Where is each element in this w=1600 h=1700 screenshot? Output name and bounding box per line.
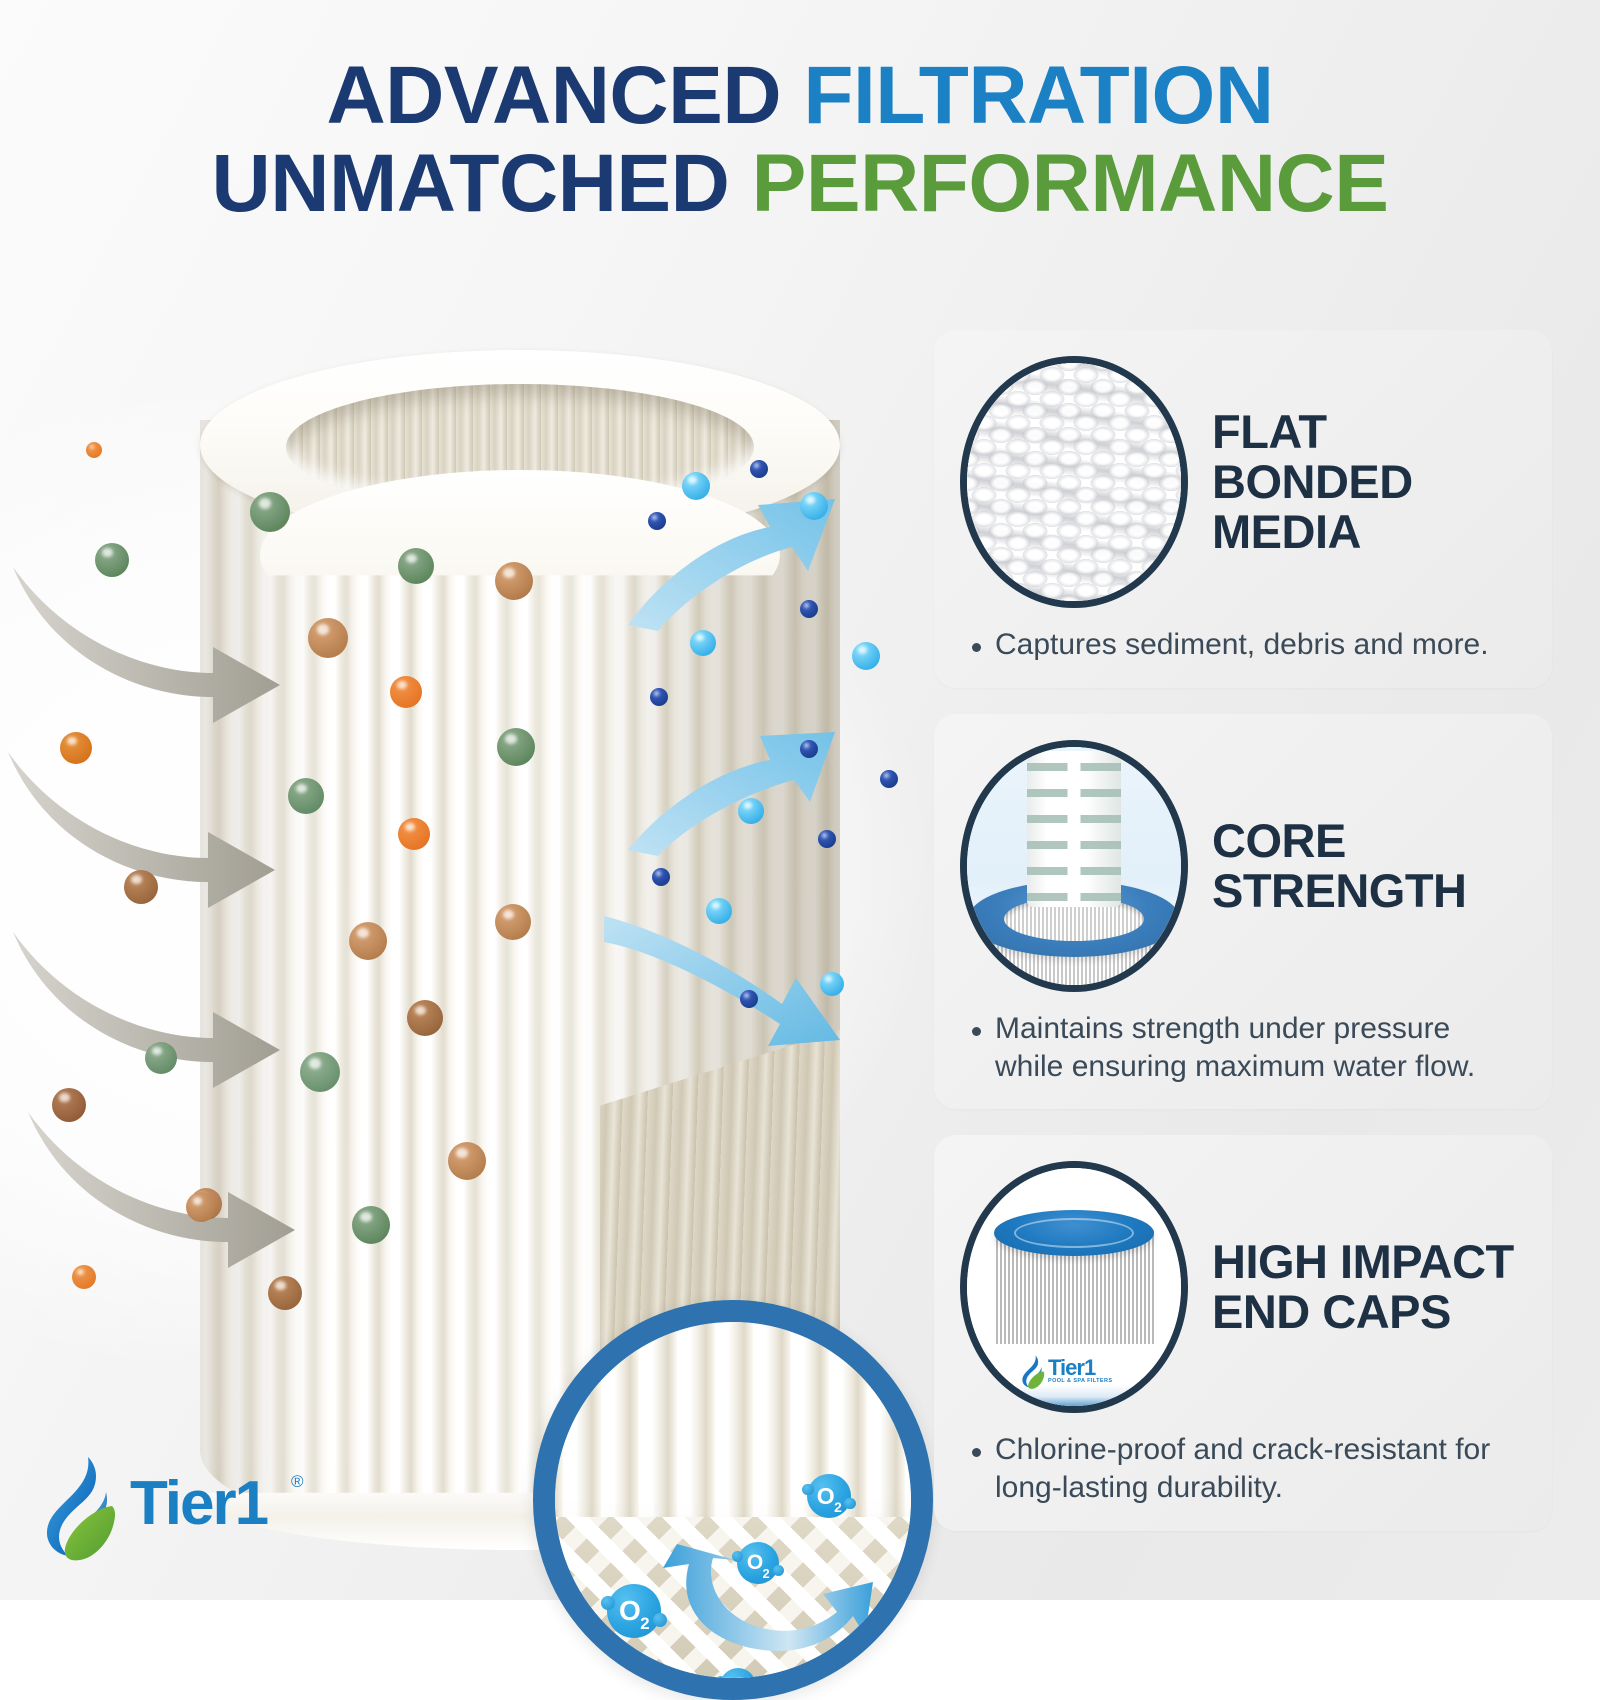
contaminant-particle <box>124 870 158 904</box>
infographic-page: ADVANCED FILTRATION UNMATCHED PERFORMANC… <box>0 0 1600 1600</box>
card-bullets: Maintains strength under pressure while … <box>960 1010 1526 1086</box>
contaminant-particle <box>349 922 387 960</box>
tier1-logo: Tier1 ® <box>34 1452 334 1570</box>
clean-water-droplet <box>650 688 668 706</box>
contaminant-particle <box>448 1142 486 1180</box>
magnifier-content: O2 O2 O2 O2 <box>555 1322 911 1678</box>
card-header: CORE STRENGTH <box>960 740 1526 992</box>
card-header: Tier1 POOL & SPA FILTERS HIGH IMPACT END… <box>960 1161 1526 1413</box>
headline-filtration: FILTRATION <box>803 50 1273 141</box>
cartridge-tagline: POOL & SPA FILTERS <box>1048 1378 1112 1384</box>
filter-illustration: O2 O2 O2 O2 <box>0 300 950 1600</box>
bullet-dot-icon <box>972 1027 981 1036</box>
bonded-media-texture-icon <box>960 356 1188 608</box>
clean-water-droplet <box>652 868 670 886</box>
contaminant-particle <box>407 1000 443 1036</box>
feature-card-flat-bonded-media[interactable]: FLAT BONDED MEDIA Captures sediment, deb… <box>934 330 1552 688</box>
card-title: CORE STRENGTH <box>1212 816 1467 917</box>
contaminant-particle <box>60 732 92 764</box>
contaminant-particle <box>52 1088 86 1122</box>
cartridge-tier1-logo: Tier1 POOL & SPA FILTERS <box>1014 1352 1134 1392</box>
clean-water-droplet <box>800 492 828 520</box>
magnified-pleats <box>555 1322 911 1537</box>
bullet-text: Captures sediment, debris and more. <box>995 626 1489 664</box>
headline-line-2: UNMATCHED PERFORMANCE <box>0 140 1600 228</box>
card-header: FLAT BONDED MEDIA <box>960 356 1526 608</box>
filter-core-icon <box>960 740 1188 992</box>
inflow-arrow-4 <box>10 1100 310 1270</box>
card-title-line: MEDIA <box>1212 507 1413 557</box>
card-title-line: HIGH IMPACT <box>1212 1237 1514 1287</box>
bullet-dot-icon <box>972 643 981 652</box>
clean-water-droplet <box>820 972 844 996</box>
tier1-wordmark: Tier1 <box>130 1468 267 1539</box>
contaminant-particle <box>72 1265 96 1289</box>
clean-water-droplet <box>750 460 768 478</box>
clean-water-droplet <box>740 990 758 1008</box>
cartridge-flame-leaf-icon <box>1018 1354 1048 1390</box>
contaminant-particle <box>300 1052 340 1092</box>
contaminant-particle <box>308 618 348 658</box>
clean-water-droplet <box>682 472 710 500</box>
headline-line-1: ADVANCED FILTRATION <box>0 52 1600 140</box>
clean-water-droplet <box>852 642 880 670</box>
contaminant-particle <box>268 1276 302 1310</box>
feature-card-high-impact-end-caps[interactable]: Tier1 POOL & SPA FILTERS HIGH IMPACT END… <box>934 1135 1552 1531</box>
card-title-line: FLAT <box>1212 407 1413 457</box>
contaminant-particle <box>390 676 422 708</box>
clean-water-droplet <box>800 600 818 618</box>
contaminant-particle <box>288 778 324 814</box>
feature-card-core-strength[interactable]: CORE STRENGTH Maintains strength under p… <box>934 714 1552 1110</box>
card-title: HIGH IMPACT END CAPS <box>1212 1237 1514 1338</box>
contaminant-particle <box>86 442 102 458</box>
feature-cards: FLAT BONDED MEDIA Captures sediment, deb… <box>934 330 1552 1557</box>
card-title-line: CORE <box>1212 816 1467 866</box>
card-bullets: Captures sediment, debris and more. <box>960 626 1526 664</box>
magnifier-circle: O2 O2 O2 O2 <box>533 1300 933 1700</box>
bullet-dot-icon <box>972 1448 981 1457</box>
contaminant-particle <box>398 548 434 584</box>
bullet-item: Captures sediment, debris and more. <box>972 626 1526 664</box>
bullet-text: Chlorine-proof and crack-resistant for l… <box>995 1431 1526 1507</box>
contaminant-particle <box>497 728 535 766</box>
card-bullets: Chlorine-proof and crack-resistant for l… <box>960 1431 1526 1507</box>
registered-mark: ® <box>291 1472 304 1492</box>
tier1-flame-leaf-icon <box>34 1452 126 1564</box>
o2-molecule: O2 <box>737 1542 779 1584</box>
bullet-text: Maintains strength under pressure while … <box>995 1010 1526 1086</box>
filter-cartridge-icon: Tier1 POOL & SPA FILTERS <box>960 1161 1188 1413</box>
card-title-line: END CAPS <box>1212 1287 1514 1337</box>
clean-water-droplet <box>818 830 836 848</box>
contaminant-particle <box>352 1206 390 1244</box>
clean-water-droplet <box>800 740 818 758</box>
bullet-item: Maintains strength under pressure while … <box>972 1010 1526 1086</box>
card-title-line: BONDED <box>1212 457 1413 507</box>
contaminant-particle <box>186 1192 216 1222</box>
o2-molecule: O2 <box>607 1584 661 1638</box>
clean-water-droplet <box>690 630 716 656</box>
bullet-item: Chlorine-proof and crack-resistant for l… <box>972 1431 1526 1507</box>
clean-water-droplet <box>880 770 898 788</box>
o2-molecule: O2 <box>807 1474 851 1518</box>
clean-water-droplet <box>706 898 732 924</box>
contaminant-particle <box>495 904 531 940</box>
inflow-arrow-1 <box>0 555 295 725</box>
headline-advanced: ADVANCED <box>326 50 781 141</box>
contaminant-particle <box>250 492 290 532</box>
contaminant-particle <box>398 818 430 850</box>
contaminant-particle <box>495 562 533 600</box>
headline: ADVANCED FILTRATION UNMATCHED PERFORMANC… <box>0 52 1600 227</box>
outflow-arrow-2 <box>620 700 850 860</box>
contaminant-particle <box>95 543 129 577</box>
clean-water-droplet <box>738 798 764 824</box>
headline-unmatched: UNMATCHED <box>212 138 730 229</box>
clean-water-droplet <box>648 512 666 530</box>
card-title: FLAT BONDED MEDIA <box>1212 407 1413 558</box>
card-title-line: STRENGTH <box>1212 866 1467 916</box>
contaminant-particle <box>145 1042 177 1074</box>
headline-performance: PERFORMANCE <box>752 138 1389 229</box>
